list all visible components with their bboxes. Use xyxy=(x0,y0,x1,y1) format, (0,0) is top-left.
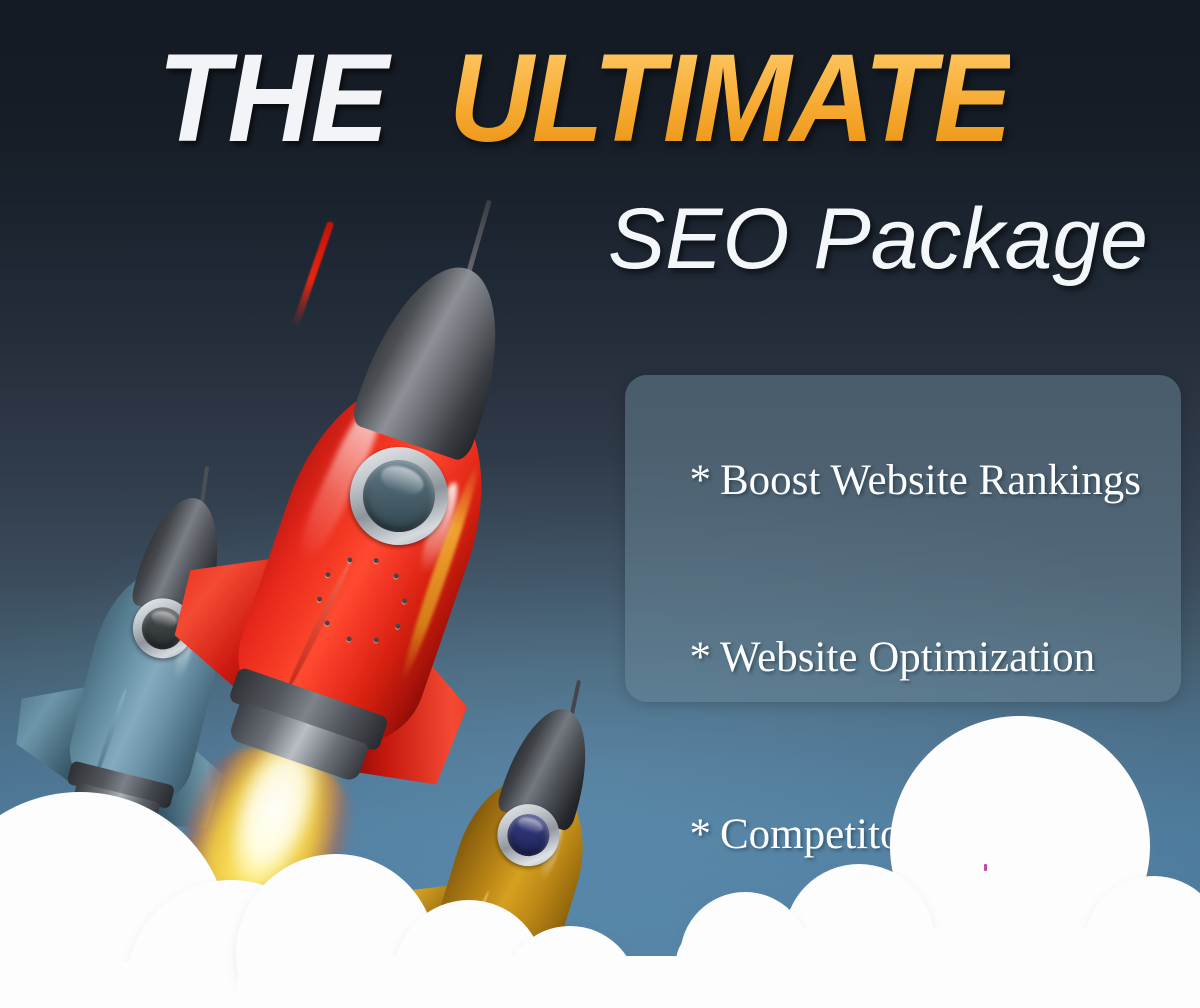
page-subtitle: SEO Package xyxy=(0,190,1148,289)
seo-package-poster: THEULTIMATE SEO Package xyxy=(0,0,1200,1008)
list-item-label: Boost Website Rankings xyxy=(720,457,1141,504)
bullet-star-icon: * xyxy=(690,634,712,681)
rocket-nose-cone xyxy=(349,249,526,463)
cloud-right xyxy=(766,716,1200,1008)
cloud-mid xyxy=(236,846,796,1008)
bullet-star-icon: * xyxy=(690,457,712,504)
list-item-label: Website Optimization xyxy=(720,634,1095,681)
title-word-the: THE xyxy=(157,36,386,161)
list-item: *Boost Website Rankings xyxy=(625,392,1200,569)
image-artifact-speck xyxy=(984,864,987,871)
title-word-ultimate: ULTIMATE xyxy=(449,36,1010,161)
page-title: THEULTIMATE xyxy=(0,36,1010,161)
